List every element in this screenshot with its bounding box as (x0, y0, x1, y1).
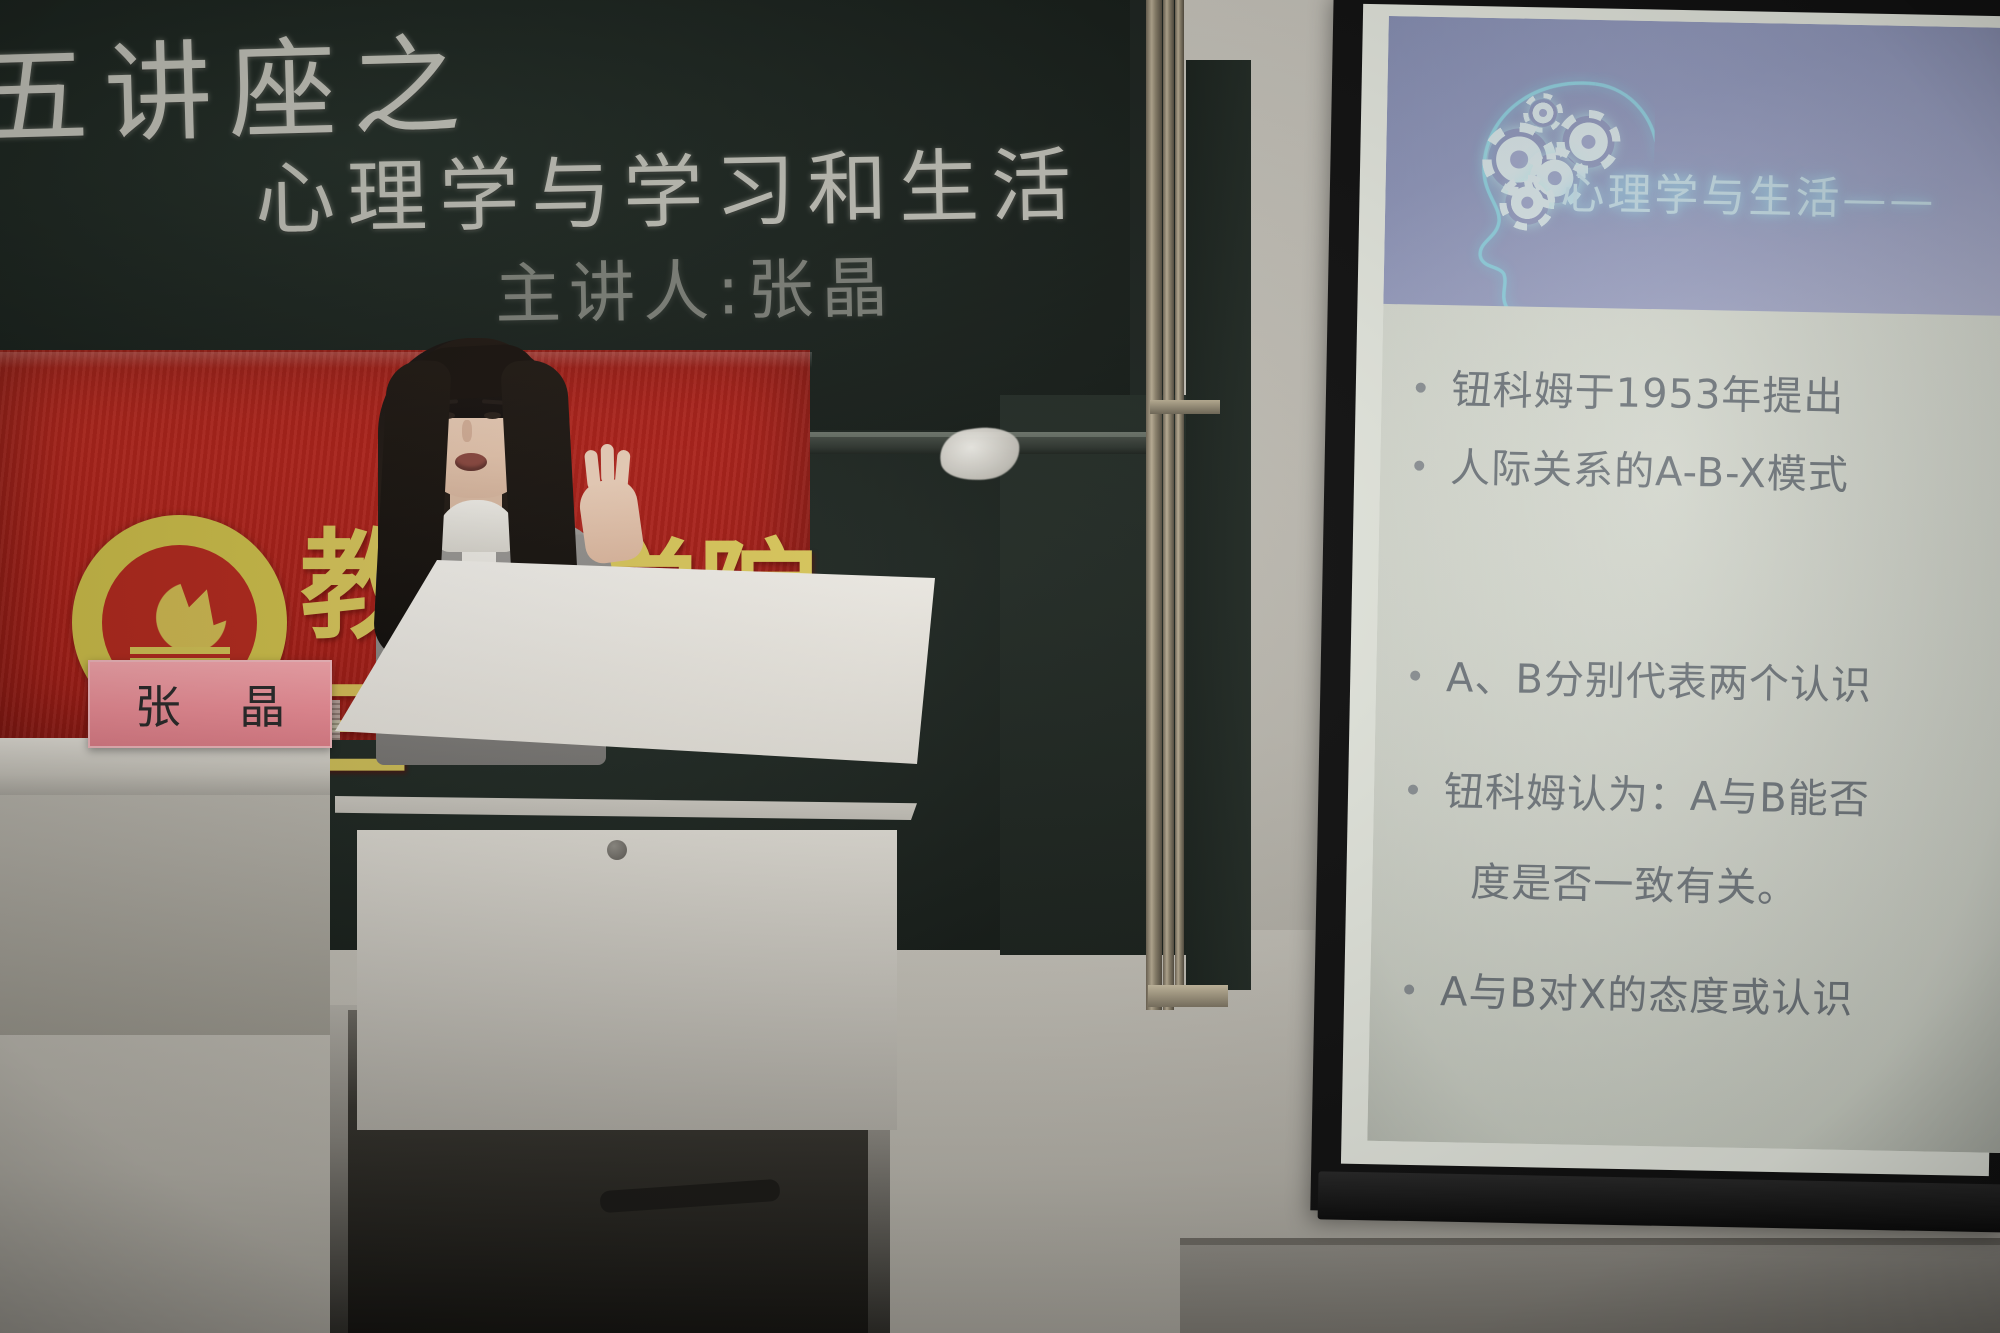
bullet-dot-icon (1410, 670, 1420, 680)
gear-bottom (1505, 180, 1550, 225)
slide-bullet-1-text: 钮科姆于1953年提出 (1451, 357, 1845, 423)
slide-bullet-5-text: A与B对X的态度或认识 (1440, 959, 1854, 1025)
slide-header-band: 心理学与生活—— (1383, 16, 2000, 318)
bullet-dot-icon (1408, 784, 1418, 794)
board-rail-3 (1175, 0, 1184, 1005)
floor (1180, 1245, 2000, 1333)
slide-bullet-3: A、B分别代表两个认识 (1410, 644, 1873, 711)
bullet-dot-icon (1414, 461, 1424, 471)
board-rail-1 (1146, 0, 1162, 1010)
lecture-photo: 五讲座之 心理学与学习和生活 主讲人:张晶 教 学院 三 张 晶 (0, 0, 2000, 1333)
speaker-nameplate: 张 晶 (88, 660, 332, 748)
slide-bullet-4-continuation: 度是否一致有关。 (1470, 850, 1799, 914)
slide-bullet-3-text: A、B分别代表两个认识 (1446, 645, 1873, 711)
projected-slide: 心理学与生活—— 钮科姆于1953年提出 人际关系的A-B-X模式 A、B分别代… (1367, 16, 2000, 1153)
slide-bullet-2: 人际关系的A-B-X模式 (1414, 435, 1850, 501)
board-rail-2 (1163, 0, 1174, 1010)
podium (335, 560, 935, 1040)
podium-body (357, 830, 897, 1130)
slide-bullet-4: 钮科姆认为：A与B能否 (1407, 758, 1870, 825)
slide-bullet-1: 钮科姆于1953年提出 (1415, 357, 1845, 423)
bullet-dot-icon (1416, 383, 1426, 393)
speaker-nameplate-label: 张 晶 (113, 671, 308, 737)
slide-bullet-4-text: 钮科姆认为：A与B能否 (1443, 759, 1870, 825)
board-rail-bracket-lower (1148, 985, 1228, 1007)
podium-knob (607, 840, 627, 860)
side-desk-body (0, 795, 330, 1035)
board-rail-bracket-upper (1150, 400, 1220, 414)
slide-bullet-5: A与B对X的态度或认识 (1404, 958, 1854, 1025)
mouth (455, 453, 487, 471)
raised-hand (577, 476, 646, 565)
finger-2 (601, 444, 615, 484)
slide-bullet-2-text: 人际关系的A-B-X模式 (1450, 435, 1850, 501)
nose (462, 420, 472, 442)
gear-small-top (1529, 99, 1558, 128)
slide-body (1367, 304, 2000, 1153)
blackboard-panel-far-right (1186, 60, 1251, 990)
chalk-text-line-2: 心理学与学习和生活 (254, 121, 1084, 251)
eye-right (484, 412, 501, 419)
bullet-dot-icon (1404, 984, 1414, 994)
slide-title: 心理学与生活—— (1560, 157, 2000, 230)
